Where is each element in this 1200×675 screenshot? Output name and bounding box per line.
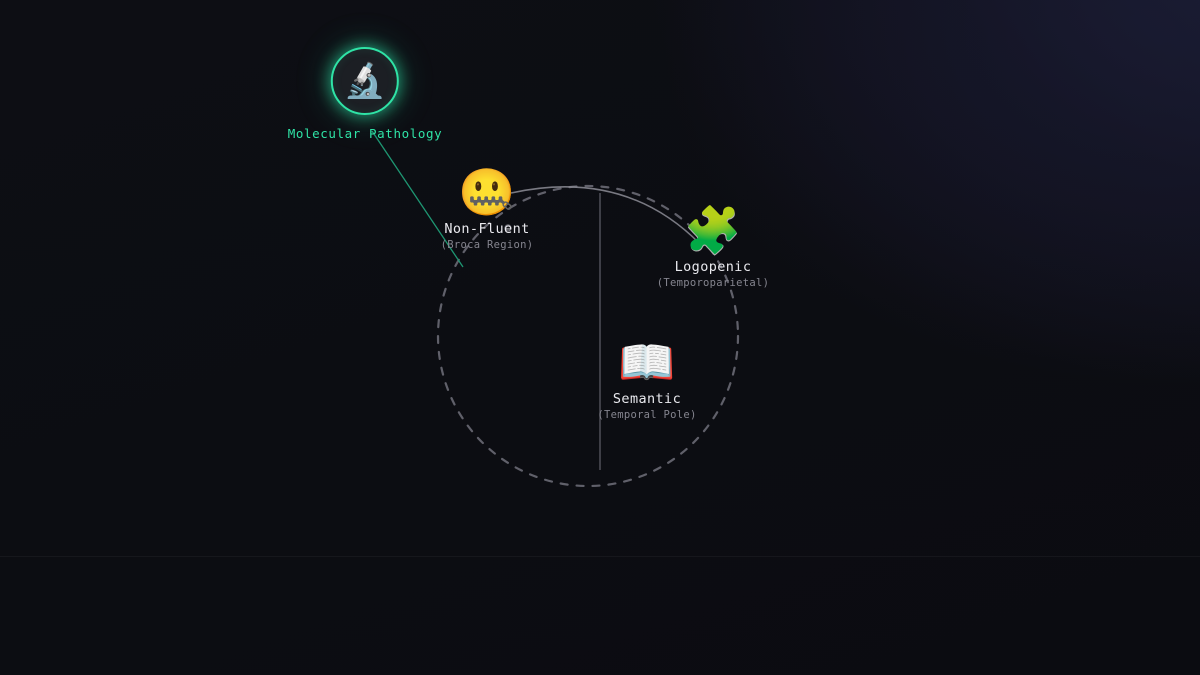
zipper-mouth-face-icon: 🤐 — [441, 169, 534, 215]
puzzle-piece-icon: 🧩 — [657, 207, 770, 253]
node-molecular-pathology[interactable]: 🔬 Molecular Pathology — [288, 47, 442, 141]
node-ring: 🔬 — [331, 47, 399, 115]
open-book-icon: 📖 — [597, 339, 696, 385]
node-semantic-label: Semantic — [597, 391, 696, 407]
microscope-icon: 🔬 — [344, 64, 386, 98]
node-non-fluent-label: Non-Fluent — [441, 221, 534, 237]
node-semantic[interactable]: 📖 Semantic (Temporal Pole) — [597, 339, 696, 421]
node-logopenic-label: Logopenic — [657, 259, 770, 275]
graph-edges-svg — [0, 0, 1200, 560]
node-semantic-sublabel: (Temporal Pole) — [597, 409, 696, 421]
node-molecular-pathology-label: Molecular Pathology — [288, 126, 442, 141]
node-non-fluent[interactable]: 🤐 Non-Fluent (Broca Region) — [441, 169, 534, 251]
node-logopenic-sublabel: (Temporoparietal) — [657, 277, 770, 289]
node-logopenic[interactable]: 🧩 Logopenic (Temporoparietal) — [657, 207, 770, 289]
footer: Vectree primary progressive aphasia vect… — [0, 556, 1200, 675]
node-non-fluent-sublabel: (Broca Region) — [441, 239, 534, 251]
